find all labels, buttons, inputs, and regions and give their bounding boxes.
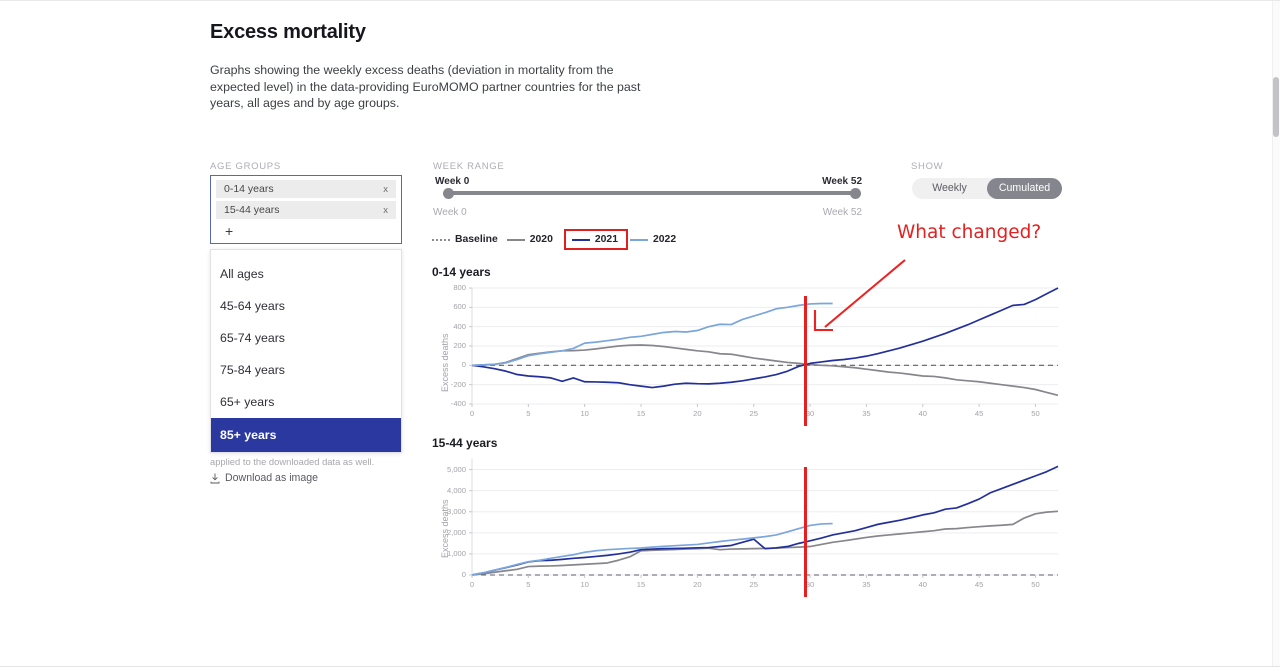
age-group-tag-label: 0-14 years bbox=[224, 183, 381, 195]
x-tick-label: 5 bbox=[518, 409, 538, 418]
chart-legend: Baseline 2020 2021 2022 bbox=[432, 229, 685, 250]
chart-1[interactable]: 01,0002,0003,0004,0005,00005101520253035… bbox=[432, 453, 1062, 593]
chart-title-1: 15-44 years bbox=[432, 436, 497, 450]
toggle-option-weekly[interactable]: Weekly bbox=[912, 178, 987, 199]
week-range-slider[interactable]: Week 0 Week 52 Week 0 Week 52 bbox=[433, 176, 861, 220]
y-tick-label: 600 bbox=[432, 302, 466, 311]
bottom-divider bbox=[0, 666, 1280, 667]
legend-line-2020 bbox=[507, 239, 525, 241]
x-tick-label: 45 bbox=[969, 580, 989, 589]
age-group-tag-label: 15-44 years bbox=[224, 204, 381, 216]
page-intro: Graphs showing the weekly excess deaths … bbox=[210, 62, 642, 112]
show-toggle[interactable]: Weekly Cumulated bbox=[912, 178, 1062, 199]
y-tick-label: 1,000 bbox=[432, 549, 466, 558]
slider-handle-low[interactable] bbox=[443, 188, 454, 199]
legend-line-2021 bbox=[572, 239, 590, 241]
x-tick-label: 10 bbox=[575, 580, 595, 589]
legend-label-2022: 2022 bbox=[653, 234, 676, 245]
x-tick-label: 35 bbox=[856, 580, 876, 589]
legend-label-2021: 2021 bbox=[595, 234, 618, 245]
x-tick-label: 10 bbox=[575, 409, 595, 418]
x-tick-label: 50 bbox=[1025, 409, 1045, 418]
y-tick-label: 0 bbox=[432, 570, 466, 579]
x-tick-label: 25 bbox=[744, 409, 764, 418]
x-tick-label: 40 bbox=[913, 580, 933, 589]
annotation-vline-chart-0 bbox=[804, 296, 806, 426]
legend-item-2021[interactable]: 2021 bbox=[564, 229, 628, 250]
annotation-vline-chart-1 bbox=[804, 467, 806, 597]
download-label: Download as image bbox=[225, 472, 318, 484]
page-root: Excess mortality Graphs showing the week… bbox=[0, 0, 1280, 671]
legend-line-baseline bbox=[432, 239, 450, 241]
add-age-group-button[interactable]: + bbox=[216, 222, 396, 239]
x-tick-label: 15 bbox=[631, 409, 651, 418]
chart-title-0: 0-14 years bbox=[432, 265, 491, 279]
dropdown-option-all-ages[interactable]: All ages bbox=[211, 258, 401, 290]
x-tick-label: 30 bbox=[800, 409, 820, 418]
page-scrollbar[interactable] bbox=[1272, 1, 1280, 666]
download-icon bbox=[210, 473, 220, 484]
legend-item-baseline[interactable]: Baseline bbox=[432, 234, 507, 245]
age-groups-multiselect[interactable]: 0-14 years x 15-44 years x + bbox=[210, 175, 402, 244]
dropdown-option-85plus[interactable]: 85+ years bbox=[211, 418, 401, 452]
x-tick-label: 25 bbox=[744, 580, 764, 589]
age-groups-dropdown[interactable]: All ages 45-64 years 65-74 years 75-84 y… bbox=[210, 249, 402, 453]
y-tick-label: 5,000 bbox=[432, 465, 466, 474]
show-label: SHOW bbox=[911, 161, 943, 172]
age-group-tag[interactable]: 15-44 years x bbox=[216, 201, 396, 219]
annotation-text: What changed? bbox=[897, 222, 1041, 243]
dropdown-option-65plus[interactable]: 65+ years bbox=[211, 386, 401, 418]
legend-label-2020: 2020 bbox=[530, 234, 553, 245]
annotation-arrow-icon bbox=[805, 255, 915, 345]
download-as-image-link[interactable]: Download as image bbox=[210, 472, 318, 484]
slider-high-value: Week 52 bbox=[822, 176, 862, 187]
chart-0[interactable]: -400-20002004006008000510152025303540455… bbox=[432, 282, 1062, 422]
y-tick-label: -400 bbox=[432, 399, 466, 408]
age-groups-label: AGE GROUPS bbox=[210, 161, 281, 172]
x-tick-label: 45 bbox=[969, 409, 989, 418]
y-tick-label: 4,000 bbox=[432, 486, 466, 495]
legend-item-2022[interactable]: 2022 bbox=[630, 234, 685, 245]
y-tick-label: 0 bbox=[432, 360, 466, 369]
legend-item-2020[interactable]: 2020 bbox=[507, 234, 562, 245]
x-tick-label: 0 bbox=[462, 409, 482, 418]
y-tick-label: 2,000 bbox=[432, 528, 466, 537]
slider-low-value: Week 0 bbox=[435, 176, 469, 187]
x-tick-label: 15 bbox=[631, 580, 651, 589]
dropdown-option-45-64[interactable]: 45-64 years bbox=[211, 290, 401, 322]
x-tick-label: 20 bbox=[687, 409, 707, 418]
y-tick-label: 200 bbox=[432, 341, 466, 350]
legend-label-baseline: Baseline bbox=[455, 234, 498, 245]
x-tick-label: 50 bbox=[1025, 580, 1045, 589]
x-tick-label: 30 bbox=[800, 580, 820, 589]
age-group-tag[interactable]: 0-14 years x bbox=[216, 180, 396, 198]
remove-icon[interactable]: x bbox=[381, 205, 390, 216]
toggle-option-cumulated[interactable]: Cumulated bbox=[987, 178, 1062, 199]
y-tick-label: 400 bbox=[432, 322, 466, 331]
y-tick-label: 3,000 bbox=[432, 507, 466, 516]
x-tick-label: 35 bbox=[856, 409, 876, 418]
dropdown-option-65-74[interactable]: 65-74 years bbox=[211, 322, 401, 354]
x-tick-label: 40 bbox=[913, 409, 933, 418]
dropdown-option-75-84[interactable]: 75-84 years bbox=[211, 354, 401, 386]
slider-max-label: Week 52 bbox=[823, 207, 862, 218]
slider-min-label: Week 0 bbox=[433, 207, 467, 218]
y-tick-label: 800 bbox=[432, 283, 466, 292]
legend-line-2022 bbox=[630, 239, 648, 241]
scrollbar-thumb[interactable] bbox=[1273, 77, 1279, 137]
top-divider bbox=[0, 0, 1280, 1]
slider-track[interactable] bbox=[448, 191, 856, 195]
x-tick-label: 20 bbox=[687, 580, 707, 589]
x-tick-label: 0 bbox=[462, 580, 482, 589]
page-title: Excess mortality bbox=[210, 21, 366, 44]
week-range-label: WEEK RANGE bbox=[433, 161, 504, 172]
x-tick-label: 5 bbox=[518, 580, 538, 589]
remove-icon[interactable]: x bbox=[381, 184, 390, 195]
slider-handle-high[interactable] bbox=[850, 188, 861, 199]
y-tick-label: -200 bbox=[432, 380, 466, 389]
